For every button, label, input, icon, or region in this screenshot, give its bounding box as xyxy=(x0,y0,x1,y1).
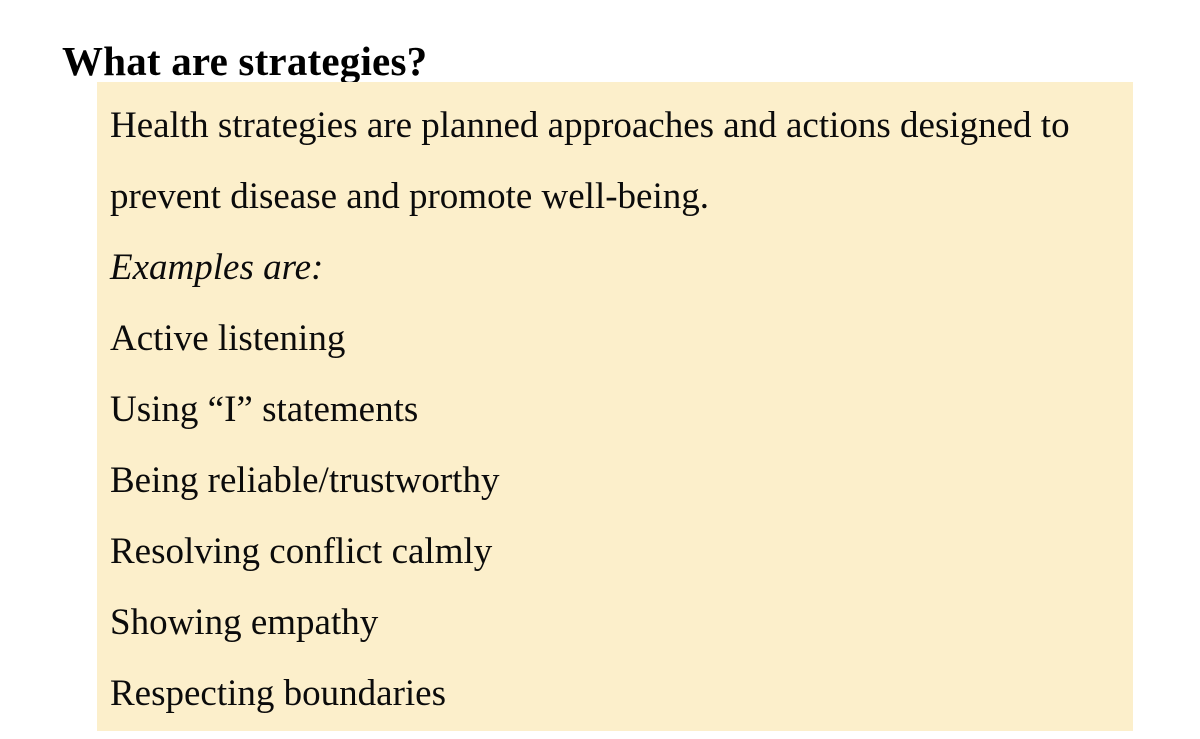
list-item: Active listening xyxy=(110,303,1118,374)
list-item: Showing empathy xyxy=(110,587,1118,658)
examples-list: Active listening Using “I” statements Be… xyxy=(110,303,1118,729)
list-item: Resolving conflict calmly xyxy=(110,516,1118,587)
examples-label: Examples are: xyxy=(110,232,1118,303)
definition-paragraph: Health strategies are planned approaches… xyxy=(110,90,1118,232)
content-panel: Health strategies are planned approaches… xyxy=(97,82,1133,731)
list-item: Using “I” statements xyxy=(110,374,1118,445)
slide: What are strategies? Health strategies a… xyxy=(0,0,1200,739)
page-title: What are strategies? xyxy=(62,36,427,86)
list-item: Being reliable/trustworthy xyxy=(110,445,1118,516)
list-item: Respecting boundaries xyxy=(110,658,1118,729)
body-text-block: Health strategies are planned approaches… xyxy=(110,90,1118,729)
